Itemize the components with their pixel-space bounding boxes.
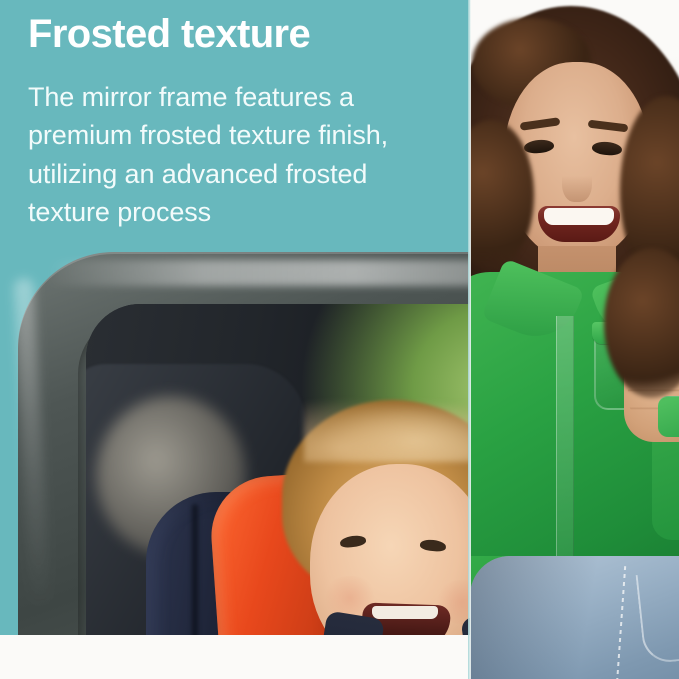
child-hair-wisps [304,392,470,462]
marketing-banner: Frosted texture The mirror frame feature… [0,0,679,679]
page-title: Frosted texture [28,12,448,57]
nose [562,158,592,202]
teeth [544,208,614,225]
feature-description: The mirror frame features a premium fros… [28,78,448,231]
shirt-placket [556,316,574,596]
left-info-panel: Frosted texture The mirror frame feature… [0,0,470,679]
child-teeth [372,606,438,619]
bolster-seam [192,504,198,635]
mirror-reflection [86,304,470,635]
frame-top-highlight [46,260,470,286]
bottom-white-strip [0,635,470,679]
shirt-cuff [658,396,679,437]
right-lifestyle-panel [470,0,679,679]
panel-divider [468,0,471,679]
baby-mirror-photo [0,232,470,635]
woman-model [470,0,679,679]
